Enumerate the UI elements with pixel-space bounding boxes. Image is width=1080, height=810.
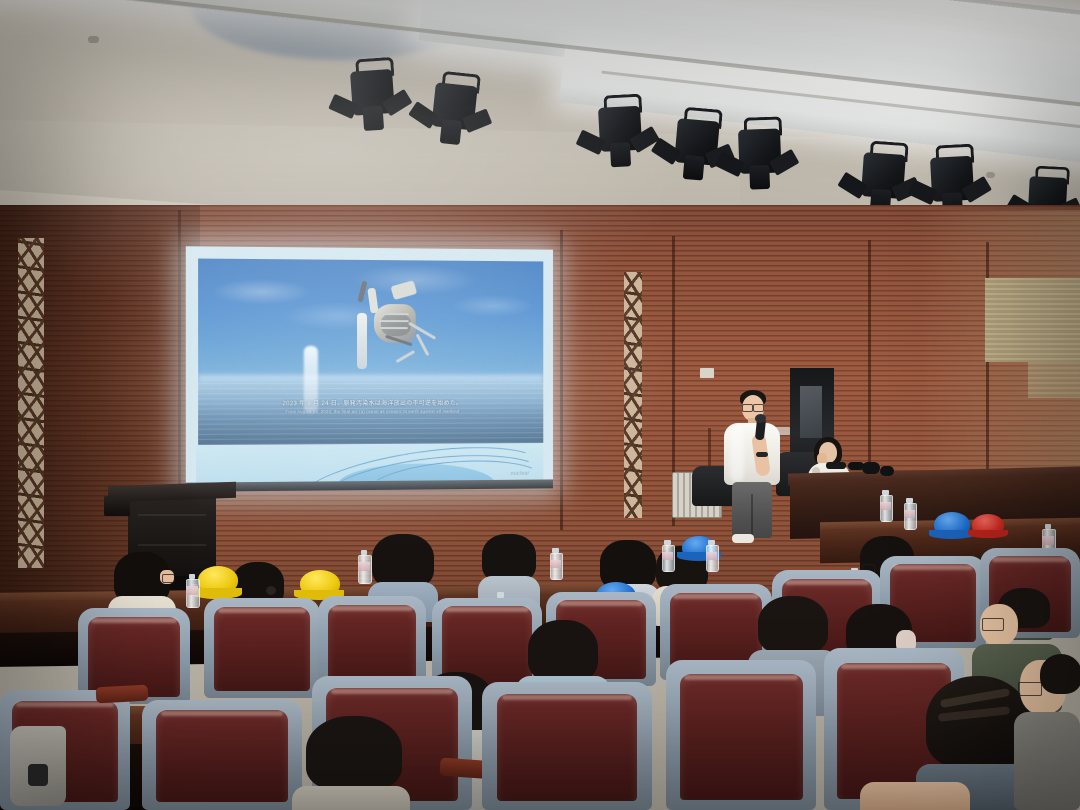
slide-watermark: nuclear (511, 471, 530, 477)
auditorium-photo: 2023 年 8 月 24 日、原発汚染水は海洋放出の不可逆を始めた。 From… (0, 0, 1080, 810)
eyeglasses (1018, 682, 1042, 696)
water-bottle (550, 548, 561, 580)
eyeglasses (753, 404, 764, 412)
water-bottle (904, 498, 915, 530)
water-bottle (358, 550, 370, 584)
desk-nameplate (826, 462, 846, 469)
water-bottle (662, 540, 673, 572)
table-microphone (880, 466, 894, 476)
sprinkler-head (986, 172, 995, 178)
wall-accent-panel (1028, 362, 1080, 398)
wall-accent-panel (985, 278, 1080, 362)
projected-slide: 2023 年 8 月 24 日、原発汚染水は海洋放出の不可逆を始めた。 From… (198, 259, 543, 448)
eyeglasses (162, 574, 175, 583)
audience-member (292, 716, 412, 810)
microphone-head (755, 414, 766, 423)
hard-hat-brim (968, 530, 1008, 538)
seat-armrest (96, 685, 149, 704)
door-window (800, 386, 822, 438)
presenter-shoe (732, 534, 754, 543)
wall-switch[interactable] (700, 368, 714, 378)
sprinkler-head (88, 36, 99, 43)
table-microphone (848, 462, 864, 470)
hair-clip (266, 586, 276, 595)
wristwatch (756, 452, 768, 457)
auditorium-seat[interactable] (142, 700, 302, 810)
auditorium-seat[interactable] (666, 660, 816, 810)
lectern-side-shelf (104, 496, 130, 516)
table-microphone (862, 462, 880, 474)
lattice-panel (18, 238, 44, 568)
water-bottle (706, 540, 717, 572)
water-bottle (186, 574, 198, 608)
eyeglasses (742, 404, 753, 412)
projection-screen: 2023 年 8 月 24 日、原発汚染水は海洋放出の不可逆を始めた。 From… (186, 246, 553, 492)
auditorium-seat[interactable] (204, 598, 320, 698)
slide-creature-artwork (338, 278, 455, 394)
wall-seam (560, 230, 563, 530)
lattice-panel (624, 272, 642, 518)
audience-arm (860, 782, 970, 810)
slide-caption-japanese: 2023 年 8 月 24 日、原発汚染水は海洋放出の不可逆を始めた。 (198, 398, 543, 408)
auditorium-seat[interactable] (482, 682, 652, 810)
water-bottle (880, 490, 891, 522)
bag-strap (28, 764, 48, 786)
eyeglasses (982, 618, 1004, 631)
audience-member (1014, 654, 1080, 810)
presenter (722, 390, 782, 540)
